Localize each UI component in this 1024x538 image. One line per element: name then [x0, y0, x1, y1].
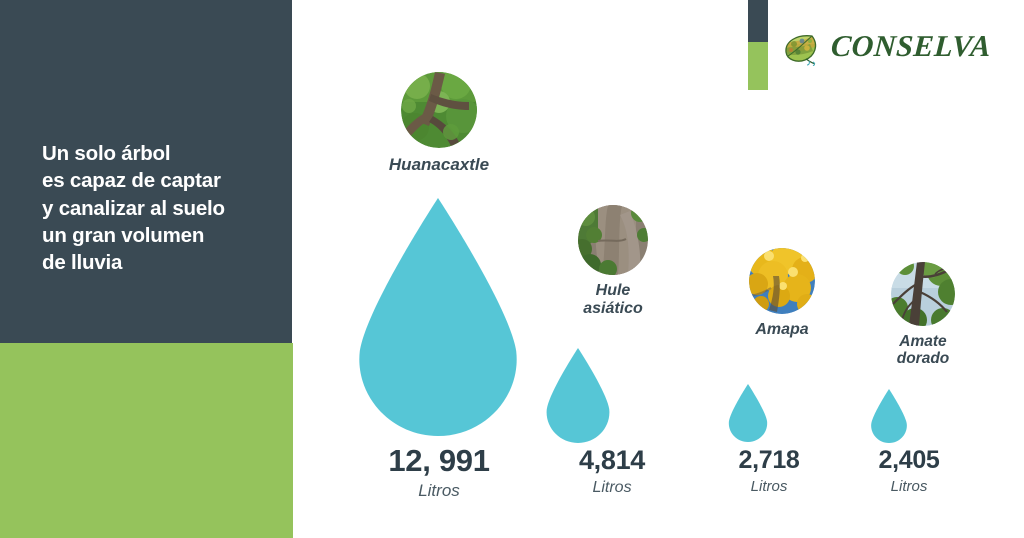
- droplet-amate-dorado: [869, 389, 909, 443]
- droplet-amapa: [727, 384, 769, 442]
- droplet-chart: Huanacaxtle 12, 991 Litros: [293, 0, 1024, 538]
- tree-name-huanacaxtle: Huanacaxtle: [339, 155, 539, 174]
- tree-column-huanacaxtle: Huanacaxtle: [339, 72, 539, 174]
- droplet-hule-asiatico: [544, 348, 612, 443]
- value-block-amate-dorado: 2,405 Litros: [799, 448, 1019, 494]
- tree-name-amapa: Amapa: [712, 321, 852, 339]
- value-amate-dorado: 2,405: [799, 448, 1019, 473]
- tree-column-hule-asiatico: Hule asiático: [543, 205, 683, 318]
- tree-name-amate-dorado: Amate dorado: [853, 333, 993, 368]
- infographic-canvas: Un solo árbol es capaz de captar y canal…: [0, 0, 1024, 538]
- tree-photo-huanacaxtle: [401, 72, 477, 148]
- left-green-panel: [0, 343, 293, 538]
- unit-amate-dorado: Litros: [799, 479, 1019, 494]
- droplet-huanacaxtle: [353, 198, 523, 436]
- tree-name-hule-asiatico: Hule asiático: [543, 282, 683, 318]
- tree-photo-hule-asiatico: [578, 205, 648, 275]
- tree-photo-amapa: [749, 248, 815, 314]
- tree-column-amapa: Amapa: [712, 248, 852, 339]
- tree-photo-amate-dorado: [891, 262, 955, 326]
- headline-text: Un solo árbol es capaz de captar y canal…: [42, 140, 282, 276]
- tree-column-amate-dorado: Amate dorado: [853, 262, 993, 368]
